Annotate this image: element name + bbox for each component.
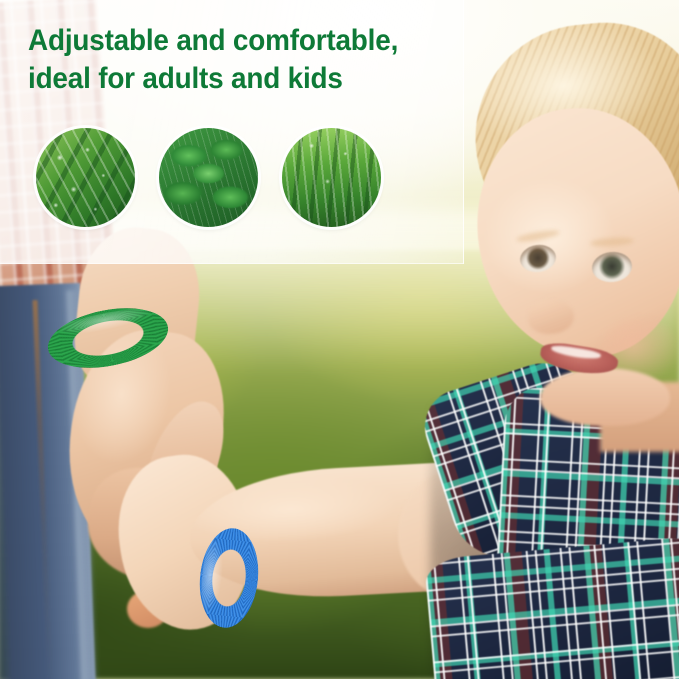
mint-leaves-icon (159, 128, 258, 227)
child-shirt-front (424, 537, 679, 679)
headline-text: Adjustable and comfortable, ideal for ad… (28, 22, 419, 98)
blue-mosquito-repellent-bracelet (195, 525, 263, 631)
product-lifestyle-image: Adjustable and comfortable, ideal for ad… (0, 0, 679, 679)
ingredient-thumbnail-row (36, 128, 381, 227)
child-chin (540, 368, 670, 426)
lemongrass-icon (282, 128, 381, 227)
overlay-panel: Adjustable and comfortable, ideal for ad… (0, 0, 464, 264)
citronella-grass-icon (36, 128, 135, 227)
